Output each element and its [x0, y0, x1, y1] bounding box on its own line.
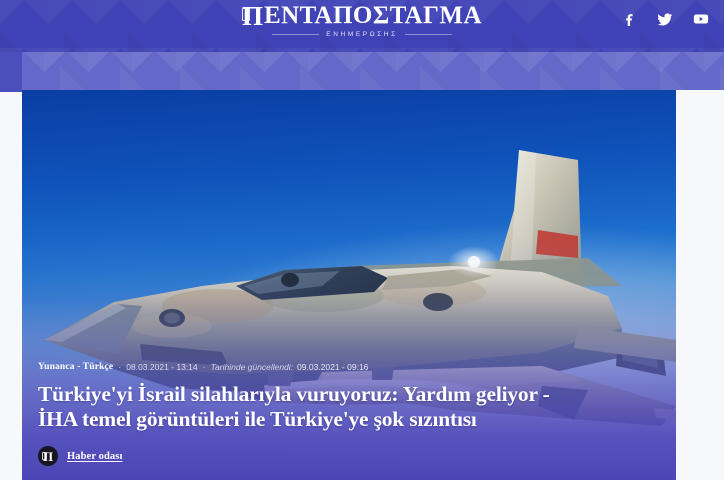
subnav-pattern [0, 52, 724, 90]
youtube-icon[interactable] [692, 10, 710, 28]
article-headline[interactable]: Türkiye'yi İsrail silahlarıyla vuruyoruz… [38, 382, 646, 432]
facebook-icon[interactable] [620, 10, 638, 28]
subnav-left-notch [0, 52, 22, 92]
article-text-block: Yunanca - Türkçe · 08.03.2021 - 13:14 · … [38, 361, 646, 466]
article-category[interactable]: Yunanca - Türkçe [38, 361, 113, 373]
headline-line-2: İHA temel görüntüleri ile Türkiye'ye şok… [38, 407, 646, 432]
twitter-icon[interactable] [656, 10, 674, 28]
article-byline[interactable]: Π Haber odası [38, 446, 646, 466]
logo-pi-mark: Π 5 [242, 3, 263, 28]
article-updated-label: Tarihinde güncellendi: [211, 361, 293, 373]
article-author[interactable]: Haber odası [67, 451, 122, 462]
logo-wordmark: ΕΝΤΑΠΟΣΤΑΓΜΑ [264, 2, 482, 29]
article-published-date: 08.03.2021 - 13:14 [126, 361, 197, 373]
social-links [620, 10, 710, 28]
meta-separator-1: · [118, 361, 121, 373]
logo-monogram: 5 [242, 8, 250, 21]
logo-rule-left [272, 34, 319, 35]
secondary-nav-bar[interactable] [0, 52, 724, 90]
article-meta: Yunanca - Türkçe · 08.03.2021 - 13:14 · … [38, 361, 646, 373]
site-logo[interactable]: Π 5 ΕΝΤΑΠΟΣΤΑΓΜΑ ΕΝΗΜΕΡΩΣΗΣ [0, 2, 724, 38]
site-header: Π 5 ΕΝΤΑΠΟΣΤΑΓΜΑ ΕΝΗΜΕΡΩΣΗΣ [0, 0, 724, 52]
logo-rule-right [405, 34, 452, 35]
page-root: Π 5 ΕΝΤΑΠΟΣΤΑΓΜΑ ΕΝΗΜΕΡΩΣΗΣ [0, 0, 724, 480]
logo-subtitle: ΕΝΗΜΕΡΩΣΗΣ [319, 31, 404, 38]
headline-line-1: Türkiye'yi İsrail silahlarıyla vuruyoruz… [38, 382, 550, 406]
avatar-monogram-box [42, 452, 47, 460]
meta-separator-2: · [203, 361, 206, 373]
hero-article-card[interactable]: Yunanca - Türkçe · 08.03.2021 - 13:14 · … [22, 90, 676, 480]
logo-subtitle-row: ΕΝΗΜΕΡΩΣΗΣ [272, 31, 452, 38]
logo-row: Π 5 ΕΝΤΑΠΟΣΤΑΓΜΑ [242, 2, 482, 29]
article-updated-date: 09.03.2021 - 09:16 [297, 361, 368, 373]
avatar: Π [38, 446, 58, 466]
